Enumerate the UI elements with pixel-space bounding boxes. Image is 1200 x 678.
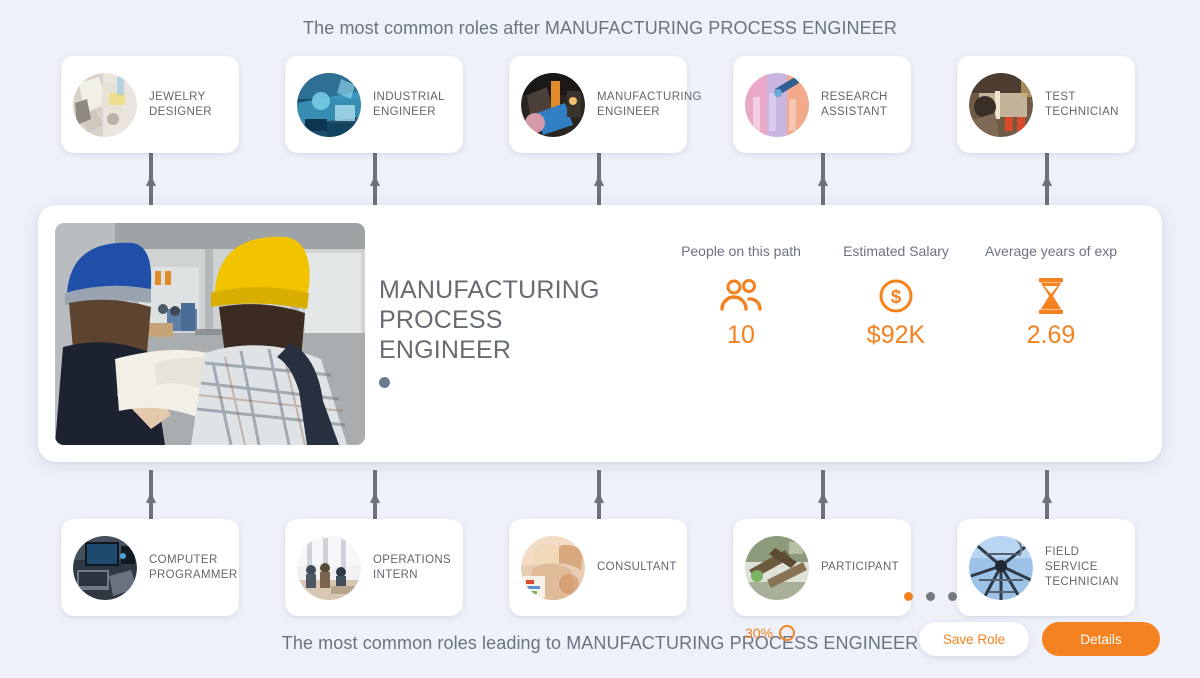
progress-percent: 30%	[745, 625, 773, 641]
arrow-up-prev-4	[1042, 470, 1052, 520]
pagination-dot-2[interactable]	[926, 592, 935, 601]
industrial-engineer-photo	[297, 73, 361, 137]
page-title: MANUFACTURING PROCESS ENGINEER	[379, 275, 679, 365]
role-card-prev-4[interactable]: FIELD SERVICE TECHNICIAN	[957, 519, 1135, 616]
role-card-prev-1[interactable]: OPERATIONS INTERN	[285, 519, 463, 616]
consultant-photo	[521, 536, 585, 600]
details-button[interactable]: Details	[1042, 622, 1160, 656]
jewelry-designer-photo	[73, 73, 137, 137]
participant-photo	[745, 536, 809, 600]
arrow-up-prev-3	[818, 470, 828, 520]
role-card-label: PARTICIPANT	[821, 560, 899, 575]
save-role-button[interactable]: Save Role	[919, 622, 1029, 656]
metric-value: 2.69	[956, 321, 1146, 350]
role-card-label: CONSULTANT	[597, 560, 677, 575]
carousel-pagination[interactable]	[904, 592, 957, 601]
arrow-up-next-1	[370, 153, 380, 205]
role-card-prev-3[interactable]: PARTICIPANT	[733, 519, 911, 616]
svg-text:$: $	[891, 287, 902, 308]
arrow-up-next-0	[146, 153, 156, 205]
role-card-next-3[interactable]: RESEARCH ASSISTANT	[733, 56, 911, 153]
manufacturing-engineer-photo	[521, 73, 585, 137]
two-workers-hard-hats-factory-photo	[55, 223, 365, 445]
progress-ring-icon	[779, 625, 795, 641]
arrow-up-next-4	[1042, 153, 1052, 205]
role-card-label: COMPUTER PROGRAMMER	[149, 553, 237, 583]
title-bullet-dot	[379, 377, 390, 388]
metric-average-years-exp: Average years of exp 2.69	[956, 243, 1146, 350]
role-card-prev-0[interactable]: COMPUTER PROGRAMMER	[61, 519, 239, 616]
research-assistant-photo	[745, 73, 809, 137]
role-card-next-4[interactable]: TEST TECHNICIAN	[957, 56, 1135, 153]
role-card-next-0[interactable]: JEWELRY DESIGNER	[61, 56, 239, 153]
arrow-up-prev-0	[146, 470, 156, 520]
match-progress: 30%	[745, 625, 795, 641]
arrow-up-next-2	[594, 153, 604, 205]
role-card-label: RESEARCH ASSISTANT	[821, 90, 888, 120]
operations-intern-photo	[297, 536, 361, 600]
hourglass-icon	[956, 273, 1146, 319]
current-role-card: MANUFACTURING PROCESS ENGINEER People on…	[38, 205, 1162, 462]
pagination-dot-3[interactable]	[948, 592, 957, 601]
computer-programmer-photo	[73, 536, 137, 600]
role-card-label: TEST TECHNICIAN	[1045, 90, 1119, 120]
role-card-label: JEWELRY DESIGNER	[149, 90, 212, 120]
role-card-next-2[interactable]: MANUFACTURING ENGINEER	[509, 56, 687, 153]
arrow-up-prev-1	[370, 470, 380, 520]
role-card-label: OPERATIONS INTERN	[373, 553, 451, 583]
arrow-up-next-3	[818, 153, 828, 205]
arrow-up-prev-2	[594, 470, 604, 520]
role-card-label: MANUFACTURING ENGINEER	[597, 90, 702, 120]
role-card-prev-2[interactable]: CONSULTANT	[509, 519, 687, 616]
pagination-dot-1[interactable]	[904, 592, 913, 601]
role-card-next-1[interactable]: INDUSTRIAL ENGINEER	[285, 56, 463, 153]
field-service-technician-photo	[969, 536, 1033, 600]
role-card-label: FIELD SERVICE TECHNICIAN	[1045, 545, 1135, 590]
role-card-label: INDUSTRIAL ENGINEER	[373, 90, 445, 120]
caption-next-roles: The most common roles after MANUFACTURIN…	[0, 18, 1200, 39]
career-path-explorer: The most common roles after MANUFACTURIN…	[0, 0, 1200, 678]
test-technician-photo	[969, 73, 1033, 137]
metric-label: Average years of exp	[956, 243, 1146, 259]
